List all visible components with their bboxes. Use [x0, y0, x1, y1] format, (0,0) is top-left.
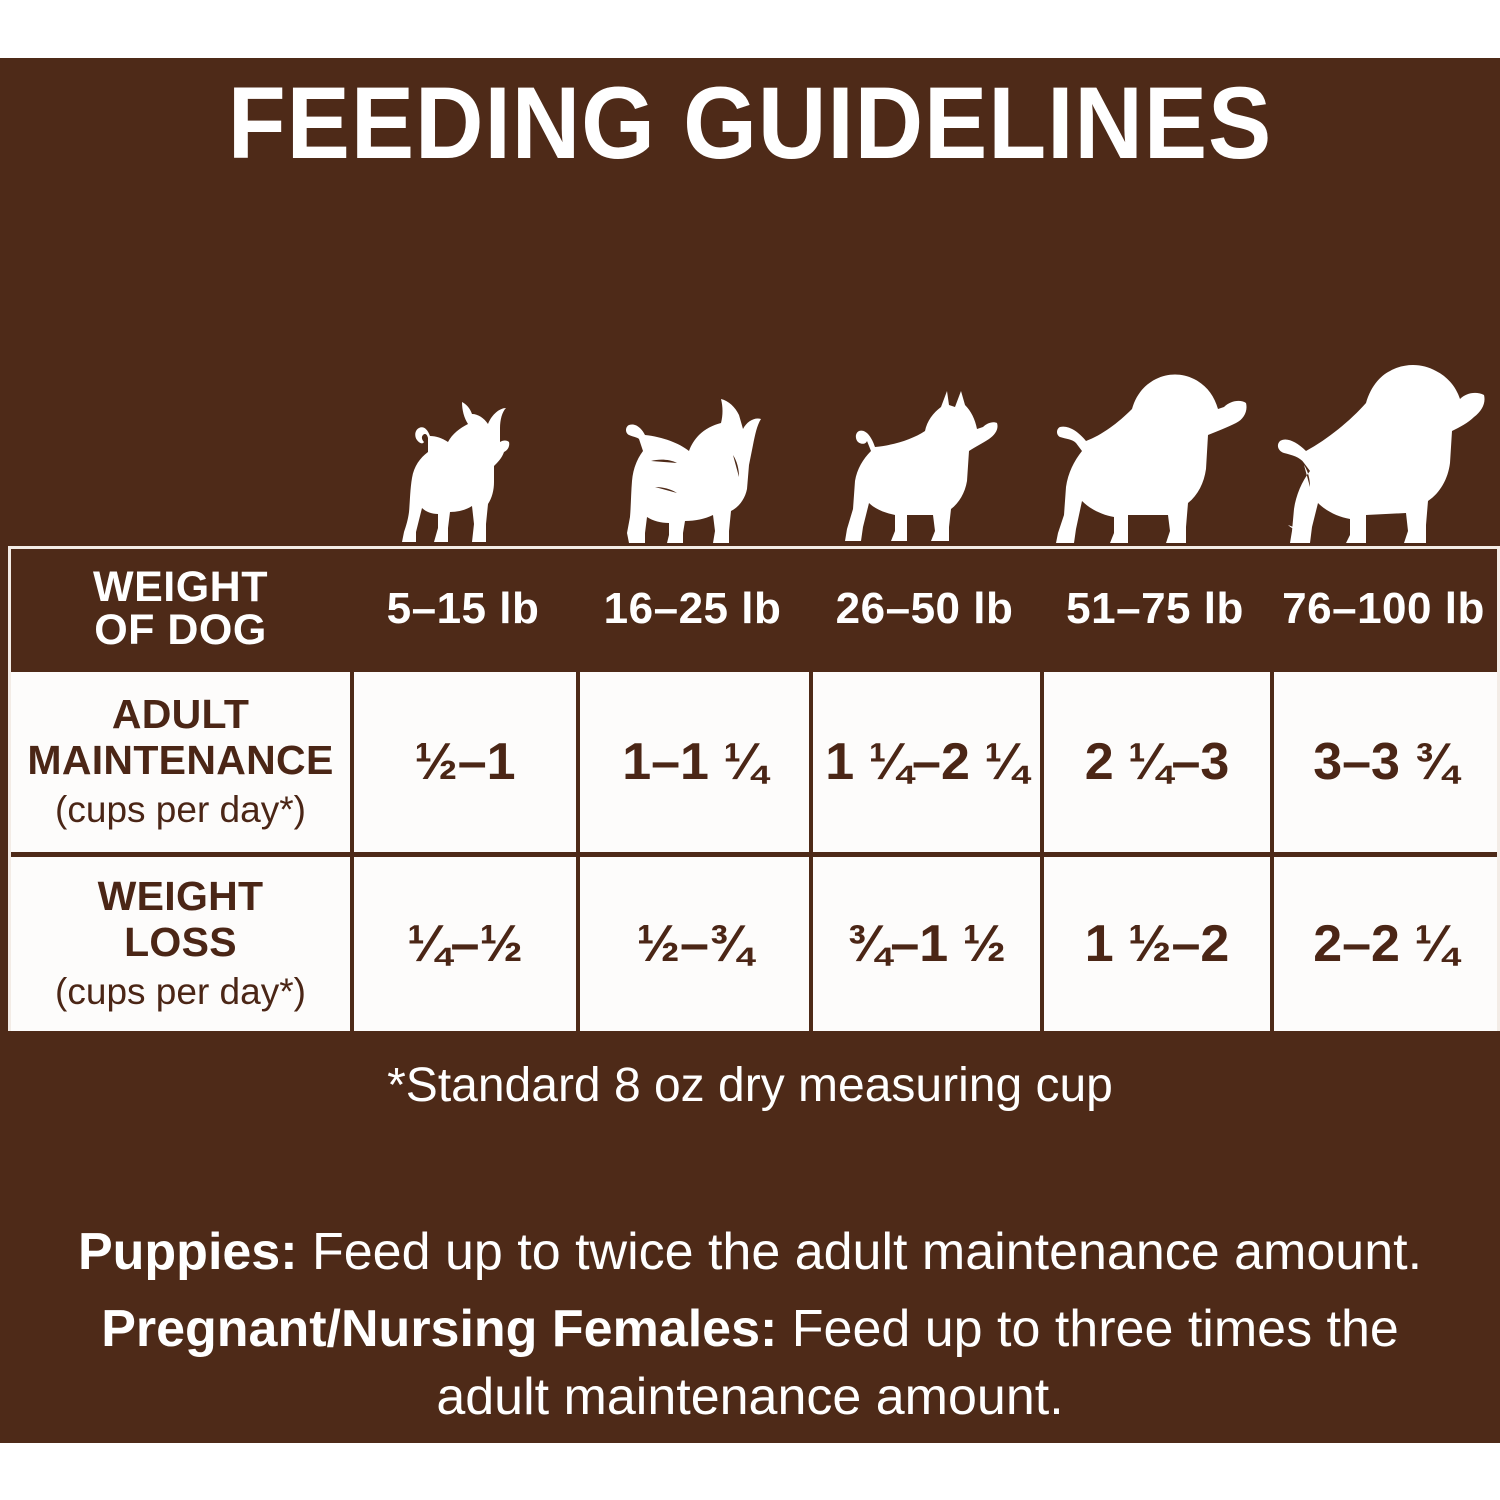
feeding-guidelines-panel: FEEDING GUIDELINES — [0, 58, 1500, 1443]
note-puppies-text: Feed up to twice the adult maintenance a… — [298, 1223, 1422, 1281]
terrier-icon — [615, 395, 765, 550]
loss-label-sub: (cups per day*) — [55, 970, 306, 1014]
loss-label-line1: WEIGHT — [98, 874, 264, 920]
note-puppies-label: Puppies: — [78, 1223, 298, 1281]
table-row-weight-loss: WEIGHT LOSS (cups per day*) ¼–½ ½–¾ ¾–1 … — [11, 852, 1497, 1031]
labrador-icon — [1052, 365, 1252, 550]
adult-label-sub: (cups per day*) — [55, 788, 306, 832]
loss-value-3: ¾–1 ½ — [809, 857, 1040, 1031]
adult-label-line2: MAINTENANCE — [27, 738, 333, 784]
loss-value-4: 1 ½–2 — [1040, 857, 1270, 1031]
adult-label-line1: ADULT — [112, 692, 249, 738]
table-row-adult-maintenance: ADULT MAINTENANCE (cups per day*) ½–1 1–… — [11, 669, 1497, 852]
retriever-icon — [1276, 355, 1491, 550]
loss-value-2: ½–¾ — [576, 857, 809, 1031]
row-label-adult-maintenance: ADULT MAINTENANCE (cups per day*) — [11, 672, 350, 852]
adult-value-5: 3–3 ¾ — [1270, 672, 1497, 852]
adult-value-1: ½–1 — [350, 672, 576, 852]
header-label-line1: WEIGHT — [93, 566, 268, 609]
adult-value-2: 1–1 ¼ — [576, 672, 809, 852]
header-weight-range-5: 76–100 lb — [1270, 549, 1497, 669]
measuring-cup-footnote: *Standard 8 oz dry measuring cup — [0, 1058, 1500, 1113]
table-header-row: WEIGHT OF DOG 5–15 lb 16–25 lb 26–50 lb … — [11, 549, 1497, 669]
chihuahua-silhouette-cell — [347, 400, 573, 550]
chihuahua-icon — [390, 400, 530, 550]
loss-value-5: 2–2 ¼ — [1270, 857, 1497, 1031]
loss-value-1: ¼–½ — [350, 857, 576, 1031]
labrador-silhouette-cell — [1037, 365, 1267, 550]
dog-silhouette-strip — [347, 328, 1500, 550]
retriever-silhouette-cell — [1267, 355, 1500, 550]
terrier-silhouette-cell — [573, 395, 806, 550]
boxer-silhouette-cell — [806, 385, 1037, 550]
header-weight-range-1: 5–15 lb — [350, 549, 576, 669]
header-weight-of-dog: WEIGHT OF DOG — [11, 549, 350, 669]
note-pregnant-nursing: Pregnant/Nursing Females: Feed up to thr… — [70, 1295, 1430, 1432]
note-pregnant-label: Pregnant/Nursing Females: — [101, 1300, 777, 1358]
row-label-weight-loss: WEIGHT LOSS (cups per day*) — [11, 857, 350, 1031]
boxer-icon — [837, 385, 1007, 550]
page-title: FEEDING GUIDELINES — [53, 70, 1448, 177]
header-weight-range-3: 26–50 lb — [809, 549, 1040, 669]
header-label-line2: OF DOG — [93, 609, 268, 652]
adult-value-4: 2 ¼–3 — [1040, 672, 1270, 852]
note-puppies: Puppies: Feed up to twice the adult main… — [70, 1218, 1430, 1287]
header-weight-range-2: 16–25 lb — [576, 549, 809, 669]
feeding-notes: Puppies: Feed up to twice the adult main… — [70, 1218, 1430, 1432]
adult-value-3: 1 ¼–2 ¼ — [809, 672, 1040, 852]
loss-label-line2: LOSS — [124, 920, 237, 966]
feeding-table: WEIGHT OF DOG 5–15 lb 16–25 lb 26–50 lb … — [8, 546, 1500, 1031]
header-weight-range-4: 51–75 lb — [1040, 549, 1270, 669]
